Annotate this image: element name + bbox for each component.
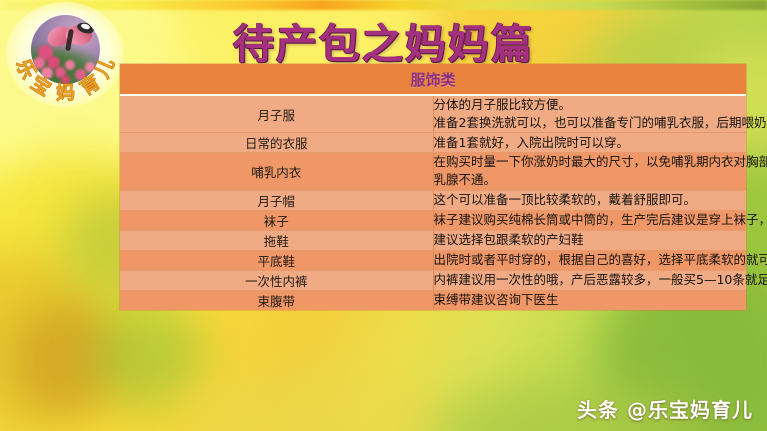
table-row: 哺乳内衣 在购买时量一下你涨奶时最大的尺寸，以免哺乳期内衣对胸部造成伤害，导致 … bbox=[120, 153, 746, 190]
table-row: 月子服 分体的月子服比较方便。 准备2套换洗就可以，也可以准备专门的哺乳衣服，后… bbox=[120, 95, 746, 133]
detail-line: 准备2套换洗就可以，也可以准备专门的哺乳衣服，后期喂奶比较方便。 bbox=[434, 114, 747, 132]
detail-line: 乳腺不通。 bbox=[434, 171, 747, 189]
table-header-row: 服饰类 bbox=[120, 64, 746, 95]
row-item-label: 日常的衣服 bbox=[120, 133, 433, 153]
detail-line: 建议选择包跟柔软的产妇鞋 bbox=[434, 231, 747, 249]
row-detail-text: 袜子建议购买纯棉长筒或中筒的，生产完后建议是穿上袜子，不要光脚。 bbox=[433, 210, 746, 230]
detail-line: 出院时或者平时穿的，根据自己的喜好，选择平底柔软的就可以啦。 bbox=[434, 251, 747, 269]
table-header-title: 服饰类 bbox=[120, 64, 746, 95]
table-body: 服饰类 月子服 分体的月子服比较方便。 准备2套换洗就可以，也可以准备专门的哺乳… bbox=[120, 64, 746, 310]
watermark: 头条 @乐宝妈育儿 bbox=[577, 394, 753, 423]
detail-line: 束缚带建议咨询下医生 bbox=[434, 291, 747, 309]
row-detail-text: 内裤建议用一次性的哦，产后恶露较多，一般买5—10条就足够了。 bbox=[433, 270, 746, 290]
slide-canvas: 乐 宝 妈 育 儿 待产包之妈妈篇 服饰类 月子服 bbox=[0, 0, 767, 431]
row-detail-text: 束缚带建议咨询下医生 bbox=[433, 290, 746, 310]
row-item-label: 拖鞋 bbox=[120, 230, 433, 250]
svg-text:妈: 妈 bbox=[56, 82, 75, 104]
row-item-label: 月子服 bbox=[120, 95, 433, 133]
detail-line: 分体的月子服比较方便。 bbox=[434, 96, 747, 114]
detail-line: 袜子建议购买纯棉长筒或中筒的，生产完后建议是穿上袜子，不要光脚。 bbox=[434, 211, 747, 229]
table-row: 束腹带 束缚带建议咨询下医生 bbox=[120, 290, 746, 310]
table-row: 平底鞋 出院时或者平时穿的，根据自己的喜好，选择平底柔软的就可以啦。 bbox=[120, 250, 746, 270]
row-detail-text: 这个可以准备一顶比较柔软的，戴着舒服即可。 bbox=[433, 190, 746, 210]
row-detail-text: 在购买时量一下你涨奶时最大的尺寸，以免哺乳期内衣对胸部造成伤害，导致 乳腺不通。 bbox=[433, 153, 746, 190]
row-item-label: 哺乳内衣 bbox=[120, 153, 433, 190]
row-item-label: 束腹带 bbox=[120, 290, 433, 310]
table-row: 袜子 袜子建议购买纯棉长筒或中筒的，生产完后建议是穿上袜子，不要光脚。 bbox=[120, 210, 746, 230]
detail-line: 在购买时量一下你涨奶时最大的尺寸，以免哺乳期内衣对胸部造成伤害，导致 bbox=[434, 153, 747, 171]
row-item-label: 月子帽 bbox=[120, 190, 433, 210]
detail-line: 准备1套就好，入院出院时可以穿。 bbox=[434, 134, 747, 152]
clothing-checklist-table: 服饰类 月子服 分体的月子服比较方便。 准备2套换洗就可以，也可以准备专门的哺乳… bbox=[120, 64, 746, 310]
row-detail-text: 出院时或者平时穿的，根据自己的喜好，选择平底柔软的就可以啦。 bbox=[433, 250, 746, 270]
detail-line: 内裤建议用一次性的哦，产后恶露较多，一般买5—10条就足够了。 bbox=[434, 271, 747, 289]
table-row: 一次性内裤 内裤建议用一次性的哦，产后恶露较多，一般买5—10条就足够了。 bbox=[120, 270, 746, 290]
page-title: 待产包之妈妈篇 bbox=[0, 10, 767, 70]
detail-line: 这个可以准备一顶比较柔软的，戴着舒服即可。 bbox=[434, 191, 747, 209]
row-detail-text: 分体的月子服比较方便。 准备2套换洗就可以，也可以准备专门的哺乳衣服，后期喂奶比… bbox=[433, 95, 746, 133]
table-row: 日常的衣服 准备1套就好，入院出院时可以穿。 bbox=[120, 133, 746, 153]
table-row: 月子帽 这个可以准备一顶比较柔软的，戴着舒服即可。 bbox=[120, 190, 746, 210]
logo-char-3: 妈 bbox=[56, 82, 75, 104]
row-detail-text: 建议选择包跟柔软的产妇鞋 bbox=[433, 230, 746, 250]
row-item-label: 袜子 bbox=[120, 210, 433, 230]
table-row: 拖鞋 建议选择包跟柔软的产妇鞋 bbox=[120, 230, 746, 250]
row-item-label: 平底鞋 bbox=[120, 250, 433, 270]
row-detail-text: 准备1套就好，入院出院时可以穿。 bbox=[433, 133, 746, 153]
row-item-label: 一次性内裤 bbox=[120, 270, 433, 290]
